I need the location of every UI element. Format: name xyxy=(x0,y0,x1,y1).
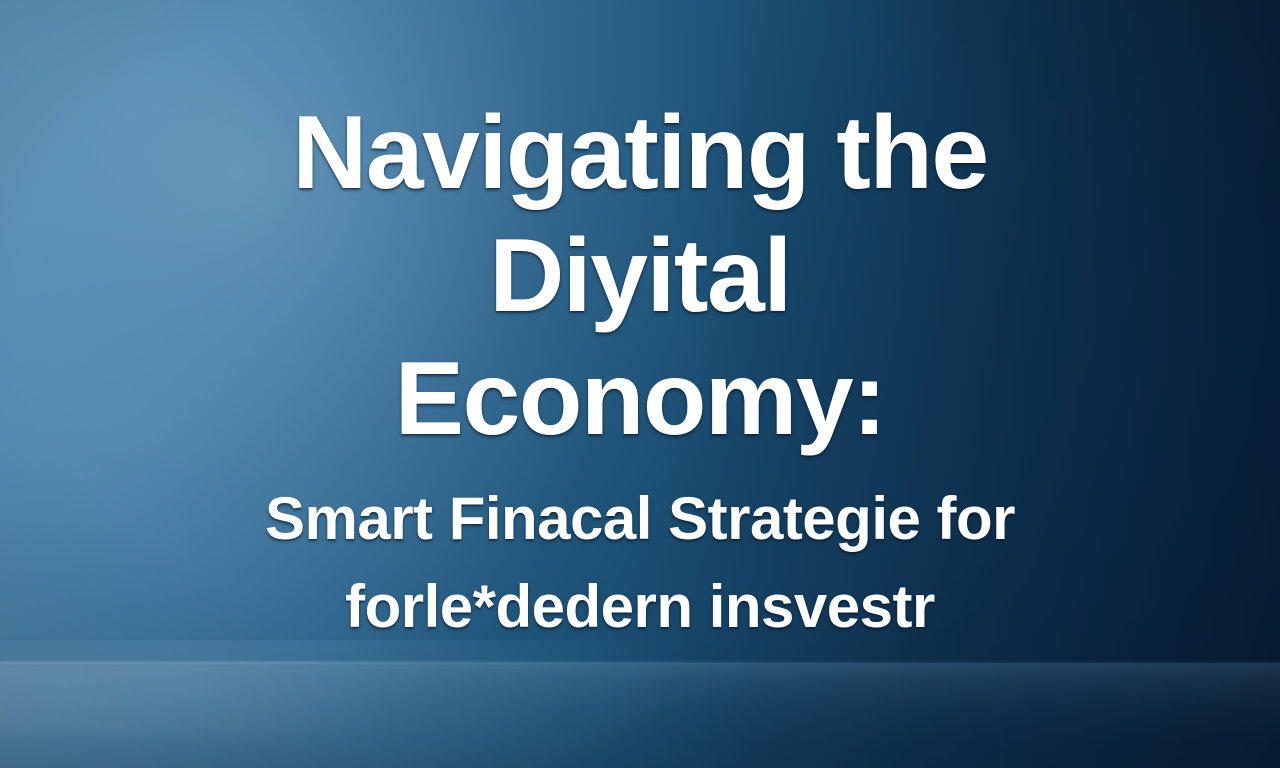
text-layer: Navigating the Diyital Economy: Smart Fi… xyxy=(0,0,1280,768)
title-line-3: Economy: xyxy=(0,347,1280,451)
title-slide: Navigating the Diyital Economy: Smart Fi… xyxy=(0,0,1280,768)
floor-highlight-streak xyxy=(0,664,580,734)
title-line-1: Navigating the xyxy=(0,101,1280,205)
subtitle-line-1: Smart Finacal Strategie for xyxy=(0,489,1280,549)
floor-light-reflection xyxy=(0,640,660,768)
title-line-2: Diyital xyxy=(0,224,1280,328)
floor-horizon-line xyxy=(0,661,1280,664)
subtitle-line-2: forle*dedern insvestr xyxy=(0,577,1280,637)
studio-floor xyxy=(0,663,1280,768)
